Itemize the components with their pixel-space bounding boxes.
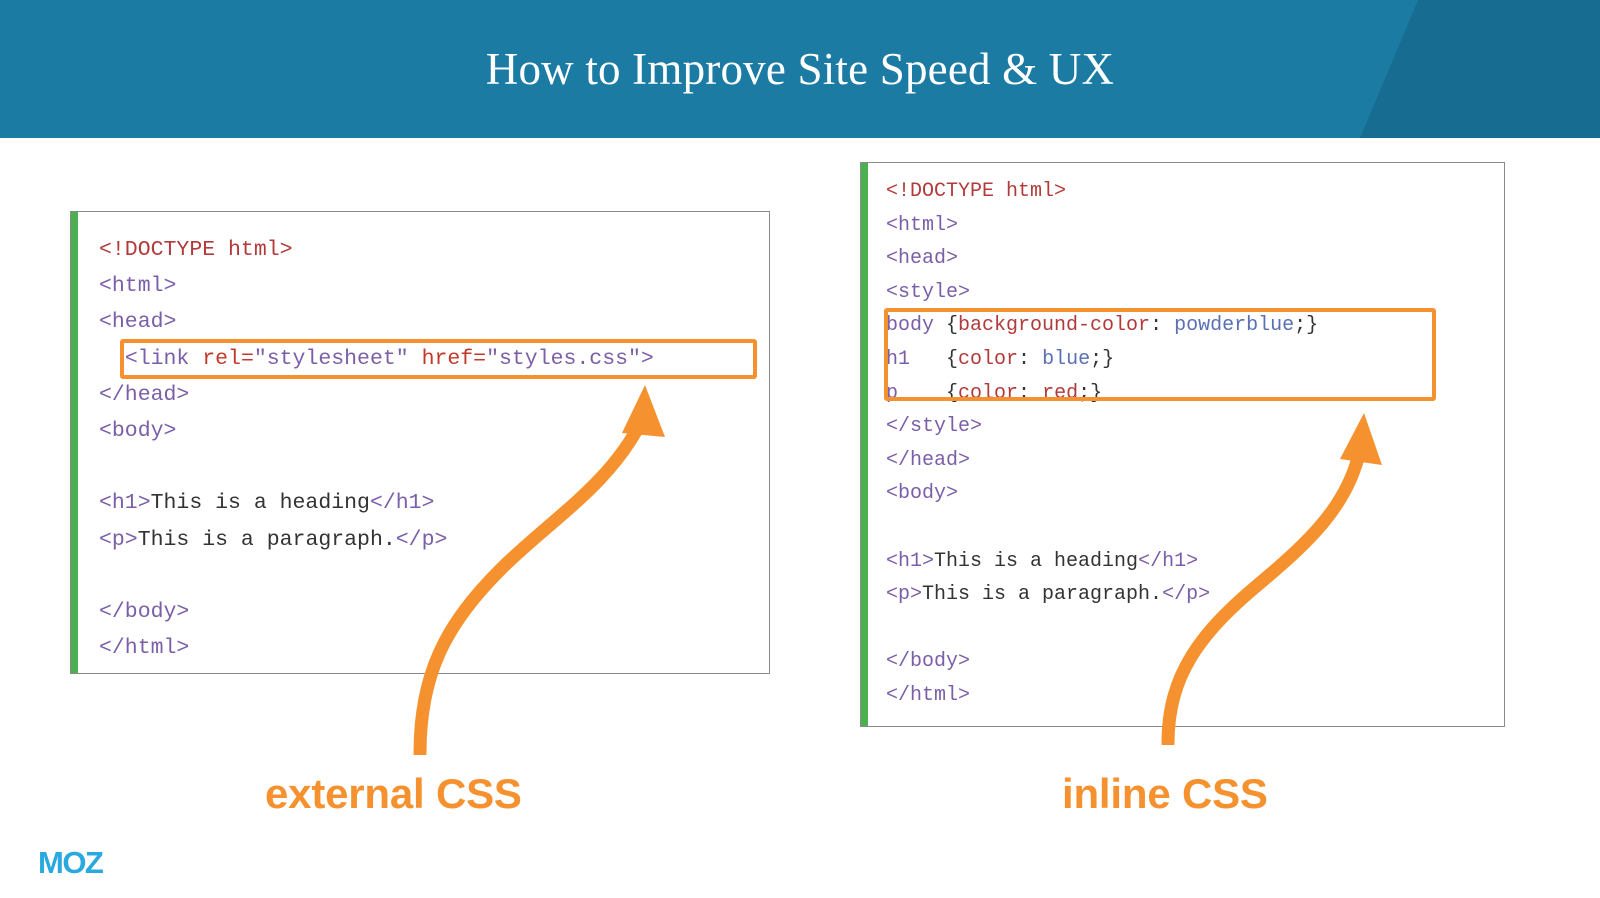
caption-inline-css: inline CSS [1062,770,1268,818]
code-line: <link rel="stylesheet" href="styles.css"… [99,341,654,377]
code-line: h1 {color: blue;} [886,343,1318,377]
page-title: How to Improve Site Speed & UX [0,0,1600,138]
code-gutter-bar [71,212,78,673]
code-line: </head> [886,444,1318,478]
code-line [886,612,1318,646]
code-line: <style> [886,276,1318,310]
code-line: <p>This is a paragraph.</p> [99,522,654,558]
code-line [99,449,654,485]
code-line: <html> [99,268,654,304]
code-block-external: <!DOCTYPE html><html><head> <link rel="s… [99,232,654,666]
code-line: <body> [886,477,1318,511]
code-block-inline: <!DOCTYPE html><html><head><style>body {… [886,175,1318,713]
code-line: <h1>This is a heading</h1> [99,485,654,521]
code-line: p {color: red;} [886,377,1318,411]
code-line [886,511,1318,545]
code-panel-external-css: <!DOCTYPE html><html><head> <link rel="s… [70,211,770,674]
slide-header: How to Improve Site Speed & UX [0,0,1600,138]
code-line: </style> [886,410,1318,444]
moz-logo: MOZ [38,845,102,881]
code-line: <head> [99,304,654,340]
code-line: <!DOCTYPE html> [99,232,654,268]
code-line: </html> [99,630,654,666]
code-line: </head> [99,377,654,413]
code-line: body {background-color: powderblue;} [886,309,1318,343]
code-line: </html> [886,679,1318,713]
code-line: <html> [886,209,1318,243]
code-line: <body> [99,413,654,449]
code-panel-inline-css: <!DOCTYPE html><html><head><style>body {… [860,162,1505,727]
code-line: <p>This is a paragraph.</p> [886,578,1318,612]
code-line: <head> [886,242,1318,276]
code-line: </body> [99,594,654,630]
code-line: <!DOCTYPE html> [886,175,1318,209]
code-line [99,558,654,594]
code-line: <h1>This is a heading</h1> [886,545,1318,579]
caption-external-css: external CSS [265,770,522,818]
code-line: </body> [886,645,1318,679]
code-gutter-bar [861,163,868,726]
